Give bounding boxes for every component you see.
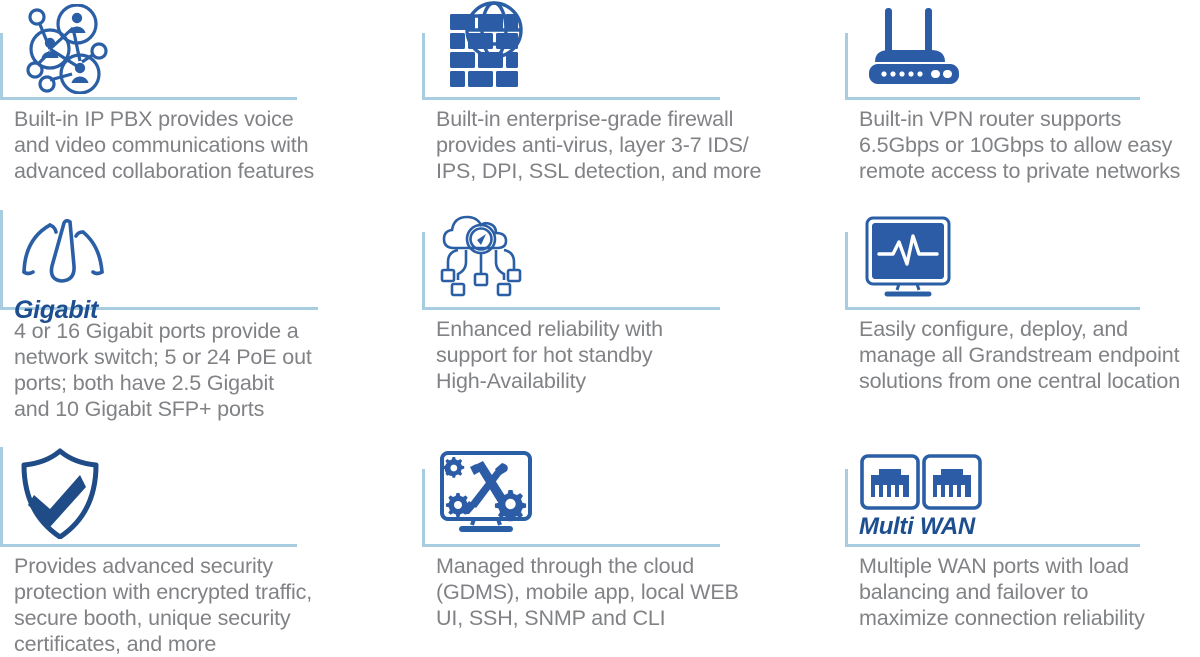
feature-grid: Built-in IP PBX provides voice and video… bbox=[0, 0, 1200, 646]
feature-description: 4 or 16 Gigabit ports provide a network … bbox=[14, 318, 312, 422]
card-horizontal-rule bbox=[845, 544, 1140, 547]
feature-description: Enhanced reliability with support for ho… bbox=[436, 316, 663, 394]
monitor-tools-icon bbox=[436, 449, 538, 537]
card-vertical-rule bbox=[422, 33, 425, 97]
card-vertical-rule bbox=[845, 232, 848, 307]
network-users-icon bbox=[14, 4, 118, 94]
card-vertical-rule bbox=[845, 469, 848, 544]
firewall-globe-icon bbox=[436, 0, 532, 92]
card-vertical-rule bbox=[0, 33, 3, 97]
card-horizontal-rule bbox=[0, 544, 297, 547]
card-horizontal-rule bbox=[422, 544, 720, 547]
feature-description: Multiple WAN ports with load balancing a… bbox=[859, 553, 1145, 631]
shield-check-icon bbox=[14, 447, 110, 539]
card-vertical-rule bbox=[0, 210, 3, 307]
card-horizontal-rule bbox=[422, 97, 720, 100]
speedometer-icon: Gigabit bbox=[14, 210, 118, 323]
rj45-ports-icon: Multi WAN bbox=[859, 453, 983, 539]
card-vertical-rule bbox=[845, 33, 848, 97]
monitor-pulse-icon bbox=[859, 214, 957, 300]
card-vertical-rule bbox=[0, 447, 3, 544]
card-horizontal-rule bbox=[845, 97, 1140, 100]
card-vertical-rule bbox=[422, 469, 425, 544]
feature-description: Built-in enterprise-grade firewall provi… bbox=[436, 106, 761, 184]
feature-description: Easily configure, deploy, and manage all… bbox=[859, 316, 1180, 394]
feature-description: Managed through the cloud (GDMS), mobile… bbox=[436, 553, 739, 631]
router-icon bbox=[859, 6, 971, 84]
cloud-gauge-network-icon bbox=[436, 212, 526, 298]
card-vertical-rule bbox=[422, 232, 425, 307]
card-horizontal-rule bbox=[0, 97, 297, 100]
card-horizontal-rule bbox=[845, 307, 1140, 310]
feature-description: Built-in IP PBX provides voice and video… bbox=[14, 106, 314, 184]
feature-description: Provides advanced security protection wi… bbox=[14, 553, 312, 657]
icon-caption: Multi WAN bbox=[859, 515, 975, 539]
feature-description: Built-in VPN router supports 6.5Gbps or … bbox=[859, 106, 1180, 184]
card-horizontal-rule bbox=[422, 307, 720, 310]
